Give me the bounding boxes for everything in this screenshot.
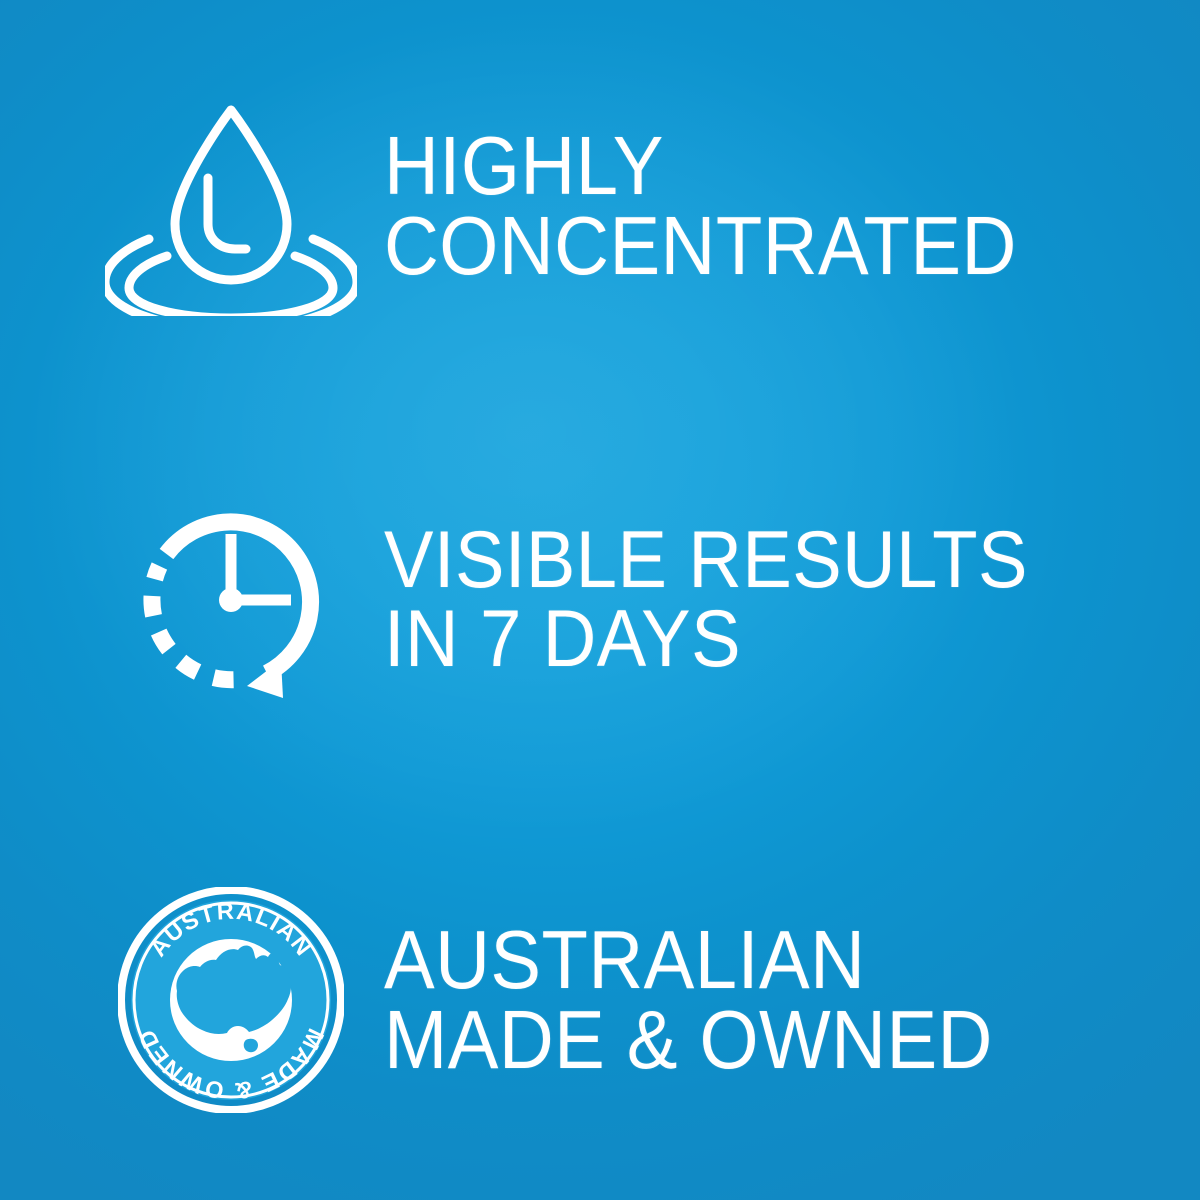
feature-caption-visible-results: VISIBLE RESULTS IN 7 DAYS [362,521,1088,678]
clock-arrow-icon [121,490,341,710]
feature-line-2: CONCENTRATED [384,206,1017,287]
australian-made-owned-badge-cell: AUSTRALIAN MADE & OWNED [100,887,362,1113]
feature-caption-australian-made: AUSTRALIAN MADE & OWNED [362,920,1049,1081]
australian-made-owned-badge-icon: AUSTRALIAN MADE & OWNED [118,887,344,1113]
clock-arrow-icon-cell [100,490,362,710]
feature-caption-highly-concentrated: HIGHLY CONCENTRATED [362,126,1076,287]
feature-line-2: MADE & OWNED [384,1000,993,1081]
feature-list: HIGHLY CONCENTRATED [0,0,1200,1200]
feature-row-highly-concentrated: HIGHLY CONCENTRATED [0,0,1200,400]
feature-line-2: IN 7 DAYS [384,600,1028,679]
water-drop-ripple-icon-cell [100,96,362,316]
feature-line-1: VISIBLE RESULTS [384,521,1028,600]
water-drop-ripple-icon [105,96,357,316]
feature-row-australian-made: AUSTRALIAN MADE & OWNED AUSTRALIAN MADE … [0,800,1200,1200]
feature-poster: HIGHLY CONCENTRATED [0,0,1200,1200]
feature-line-1: HIGHLY [384,126,1017,207]
feature-line-1: AUSTRALIAN [384,920,993,1001]
clock-center-hub-icon [219,588,243,612]
feature-row-visible-results: VISIBLE RESULTS IN 7 DAYS [0,400,1200,800]
